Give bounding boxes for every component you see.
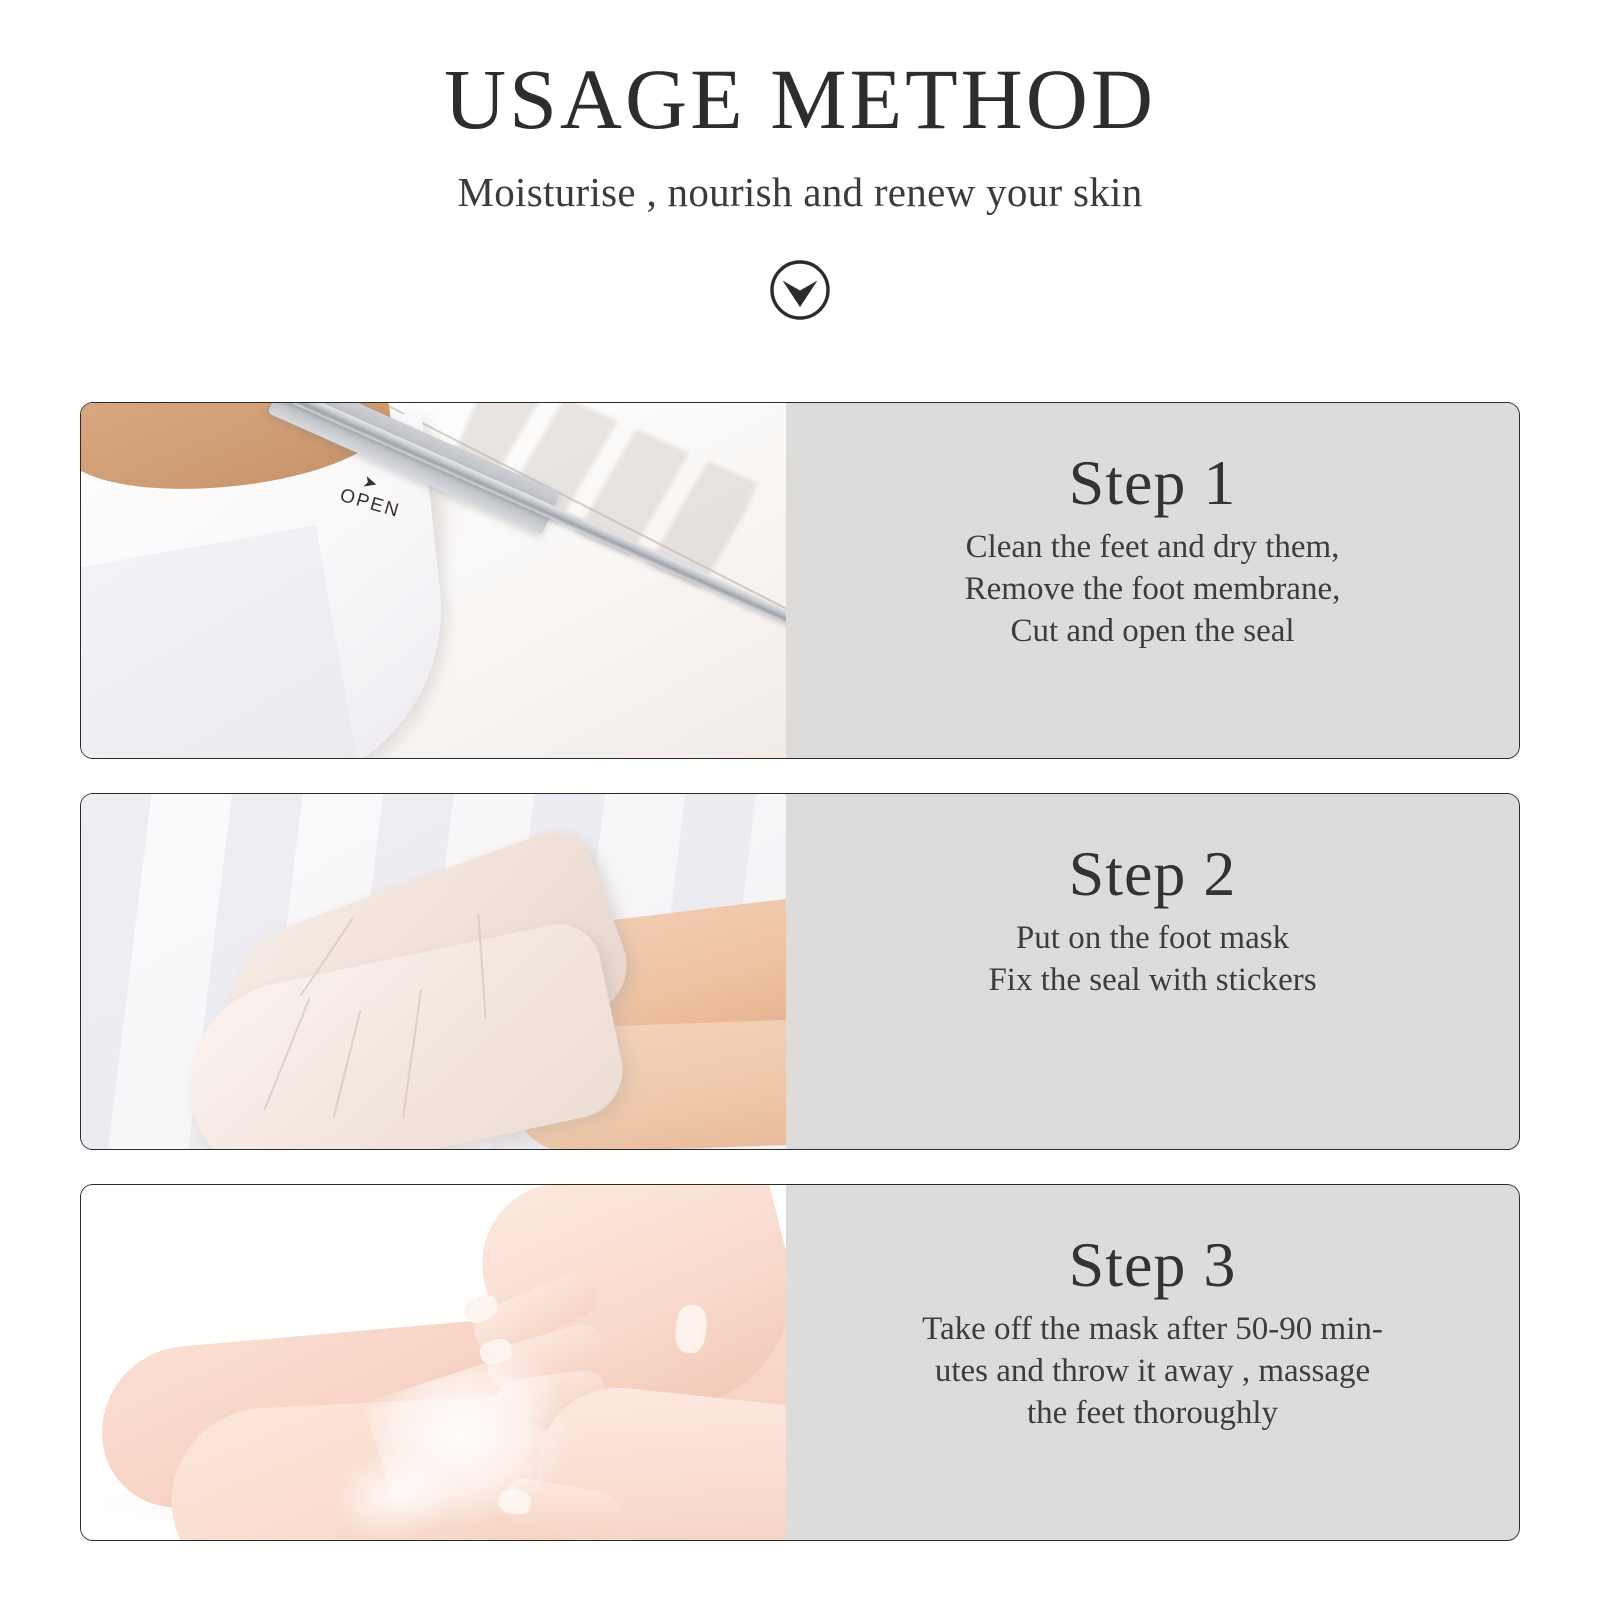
scroll-hint (0, 259, 1600, 321)
step-card-3: Step 3 Take off the mask after 50-90 min… (80, 1184, 1520, 1541)
step-1-photo: ➤ OPEN (81, 403, 786, 758)
step-1-line-3: Cut and open the seal (965, 610, 1341, 652)
step-3-body: Take off the mask after 50-90 min- utes … (896, 1308, 1409, 1434)
step-2-title: Step 2 (1069, 840, 1237, 907)
step-3-photo (81, 1185, 786, 1540)
step-3-line-1: Take off the mask after 50-90 min- (922, 1308, 1383, 1350)
circle-down-chevron-icon (769, 259, 831, 321)
step-2-text-panel: Step 2 Put on the foot mask Fix the seal… (786, 794, 1519, 1149)
step-3-line-2: utes and throw it away , massage (922, 1350, 1383, 1392)
step-1-line-2: Remove the foot membrane, (965, 568, 1341, 610)
step-2-line-1: Put on the foot mask (988, 917, 1316, 959)
page-header: USAGE METHOD Moisturise , nourish and re… (0, 0, 1600, 213)
step-card-2: Step 2 Put on the foot mask Fix the seal… (80, 793, 1520, 1150)
step-3-text-panel: Step 3 Take off the mask after 50-90 min… (786, 1185, 1519, 1540)
step-2-body: Put on the foot mask Fix the seal with s… (962, 917, 1342, 1001)
page-title: USAGE METHOD (0, 56, 1600, 142)
step-1-title: Step 1 (1069, 449, 1237, 516)
page-subtitle: Moisturise , nourish and renew your skin (0, 172, 1600, 213)
step-2-line-2: Fix the seal with stickers (988, 959, 1316, 1001)
step-3-line-3: the feet thoroughly (922, 1392, 1383, 1434)
step-1-body: Clean the feet and dry them, Remove the … (939, 526, 1367, 652)
step-3-title: Step 3 (1069, 1231, 1237, 1298)
step-1-text-panel: Step 1 Clean the feet and dry them, Remo… (786, 403, 1519, 758)
step-1-line-1: Clean the feet and dry them, (965, 526, 1341, 568)
steps-list: ➤ OPEN Step 1 Clean the feet and dry the… (80, 402, 1520, 1575)
step-2-photo (81, 794, 786, 1149)
step-card-1: ➤ OPEN Step 1 Clean the feet and dry the… (80, 402, 1520, 759)
